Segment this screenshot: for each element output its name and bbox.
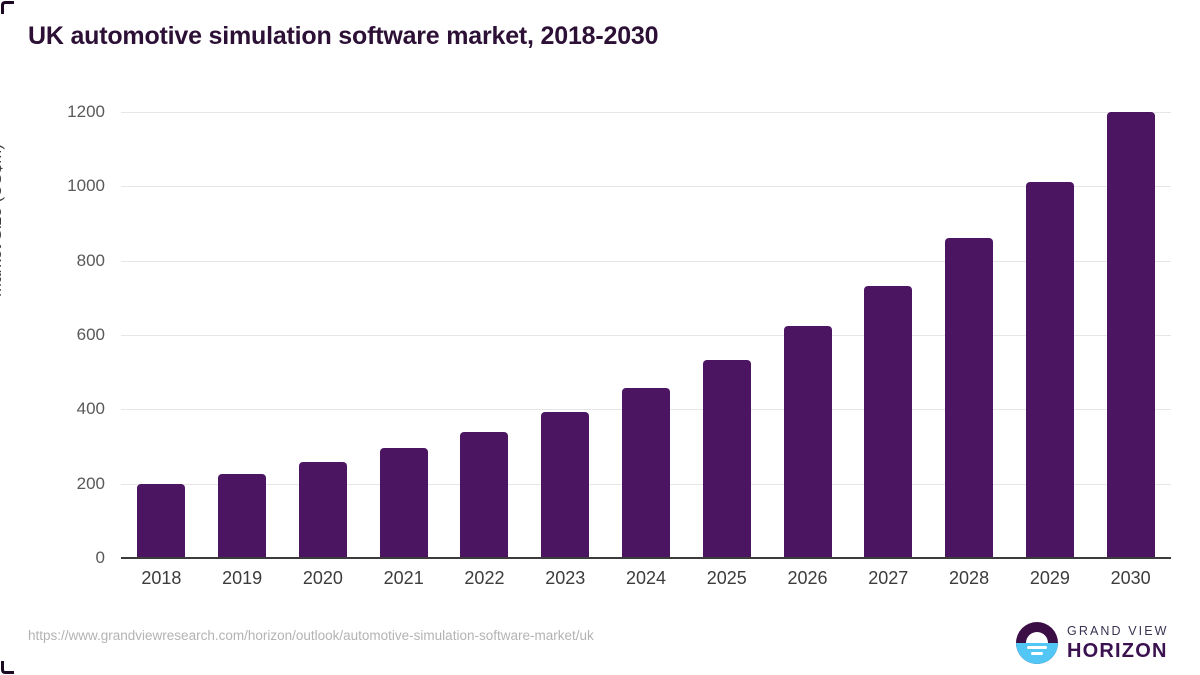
y-tick-label: 800 [0, 251, 105, 271]
y-tick-label: 200 [0, 474, 105, 494]
gridline-600 [121, 335, 1171, 336]
x-tick-label-2020: 2020 [283, 568, 363, 589]
source-url[interactable]: https://www.grandviewresearch.com/horizo… [28, 628, 594, 643]
bar-2030[interactable] [1107, 112, 1155, 558]
bar-2018[interactable] [137, 484, 185, 558]
logo-line-short [1031, 652, 1043, 655]
bar-2023[interactable] [541, 412, 589, 558]
x-tick-label-2028: 2028 [929, 568, 1009, 589]
gridline-1200 [121, 112, 1171, 113]
bar-2021[interactable] [380, 448, 428, 558]
y-tick-label: 1200 [0, 102, 105, 122]
x-tick-label-2027: 2027 [848, 568, 928, 589]
logo-wordmark: GRAND VIEW HORIZON [1067, 625, 1169, 662]
x-tick-label-2029: 2029 [1010, 568, 1090, 589]
x-tick-label-2026: 2026 [768, 568, 848, 589]
horizon-circle-icon [1016, 622, 1058, 664]
bar-2022[interactable] [460, 432, 508, 558]
logo-line-long [1027, 646, 1047, 649]
x-axis-line [121, 557, 1171, 559]
x-tick-label-2021: 2021 [364, 568, 444, 589]
bar-2020[interactable] [299, 462, 347, 558]
x-tick-label-2018: 2018 [121, 568, 201, 589]
bar-2024[interactable] [622, 388, 670, 558]
x-tick-label-2019: 2019 [202, 568, 282, 589]
chart-page: UK automotive simulation software market… [0, 0, 1200, 675]
bar-2029[interactable] [1026, 182, 1074, 558]
logo-horizon-text: HORIZON [1067, 641, 1169, 661]
bar-2027[interactable] [864, 286, 912, 558]
x-tick-label-2022: 2022 [444, 568, 524, 589]
y-tick-label: 400 [0, 399, 105, 419]
x-tick-label-2024: 2024 [606, 568, 686, 589]
bar-2025[interactable] [703, 360, 751, 558]
gridline-800 [121, 261, 1171, 262]
bar-2019[interactable] [218, 474, 266, 558]
x-tick-label-2025: 2025 [687, 568, 767, 589]
logo-grand-view-text: GRAND VIEW [1067, 625, 1169, 638]
x-tick-label-2023: 2023 [525, 568, 605, 589]
x-tick-label-2030: 2030 [1091, 568, 1171, 589]
bar-2026[interactable] [784, 326, 832, 558]
y-tick-label: 0 [0, 548, 105, 568]
bar-2028[interactable] [945, 238, 993, 558]
logo-sun-dome [1026, 632, 1048, 643]
plot-area [121, 112, 1171, 558]
grand-view-horizon-logo[interactable]: GRAND VIEW HORIZON [1016, 622, 1169, 664]
gridline-1000 [121, 186, 1171, 187]
y-tick-label: 1000 [0, 176, 105, 196]
y-tick-label: 600 [0, 325, 105, 345]
